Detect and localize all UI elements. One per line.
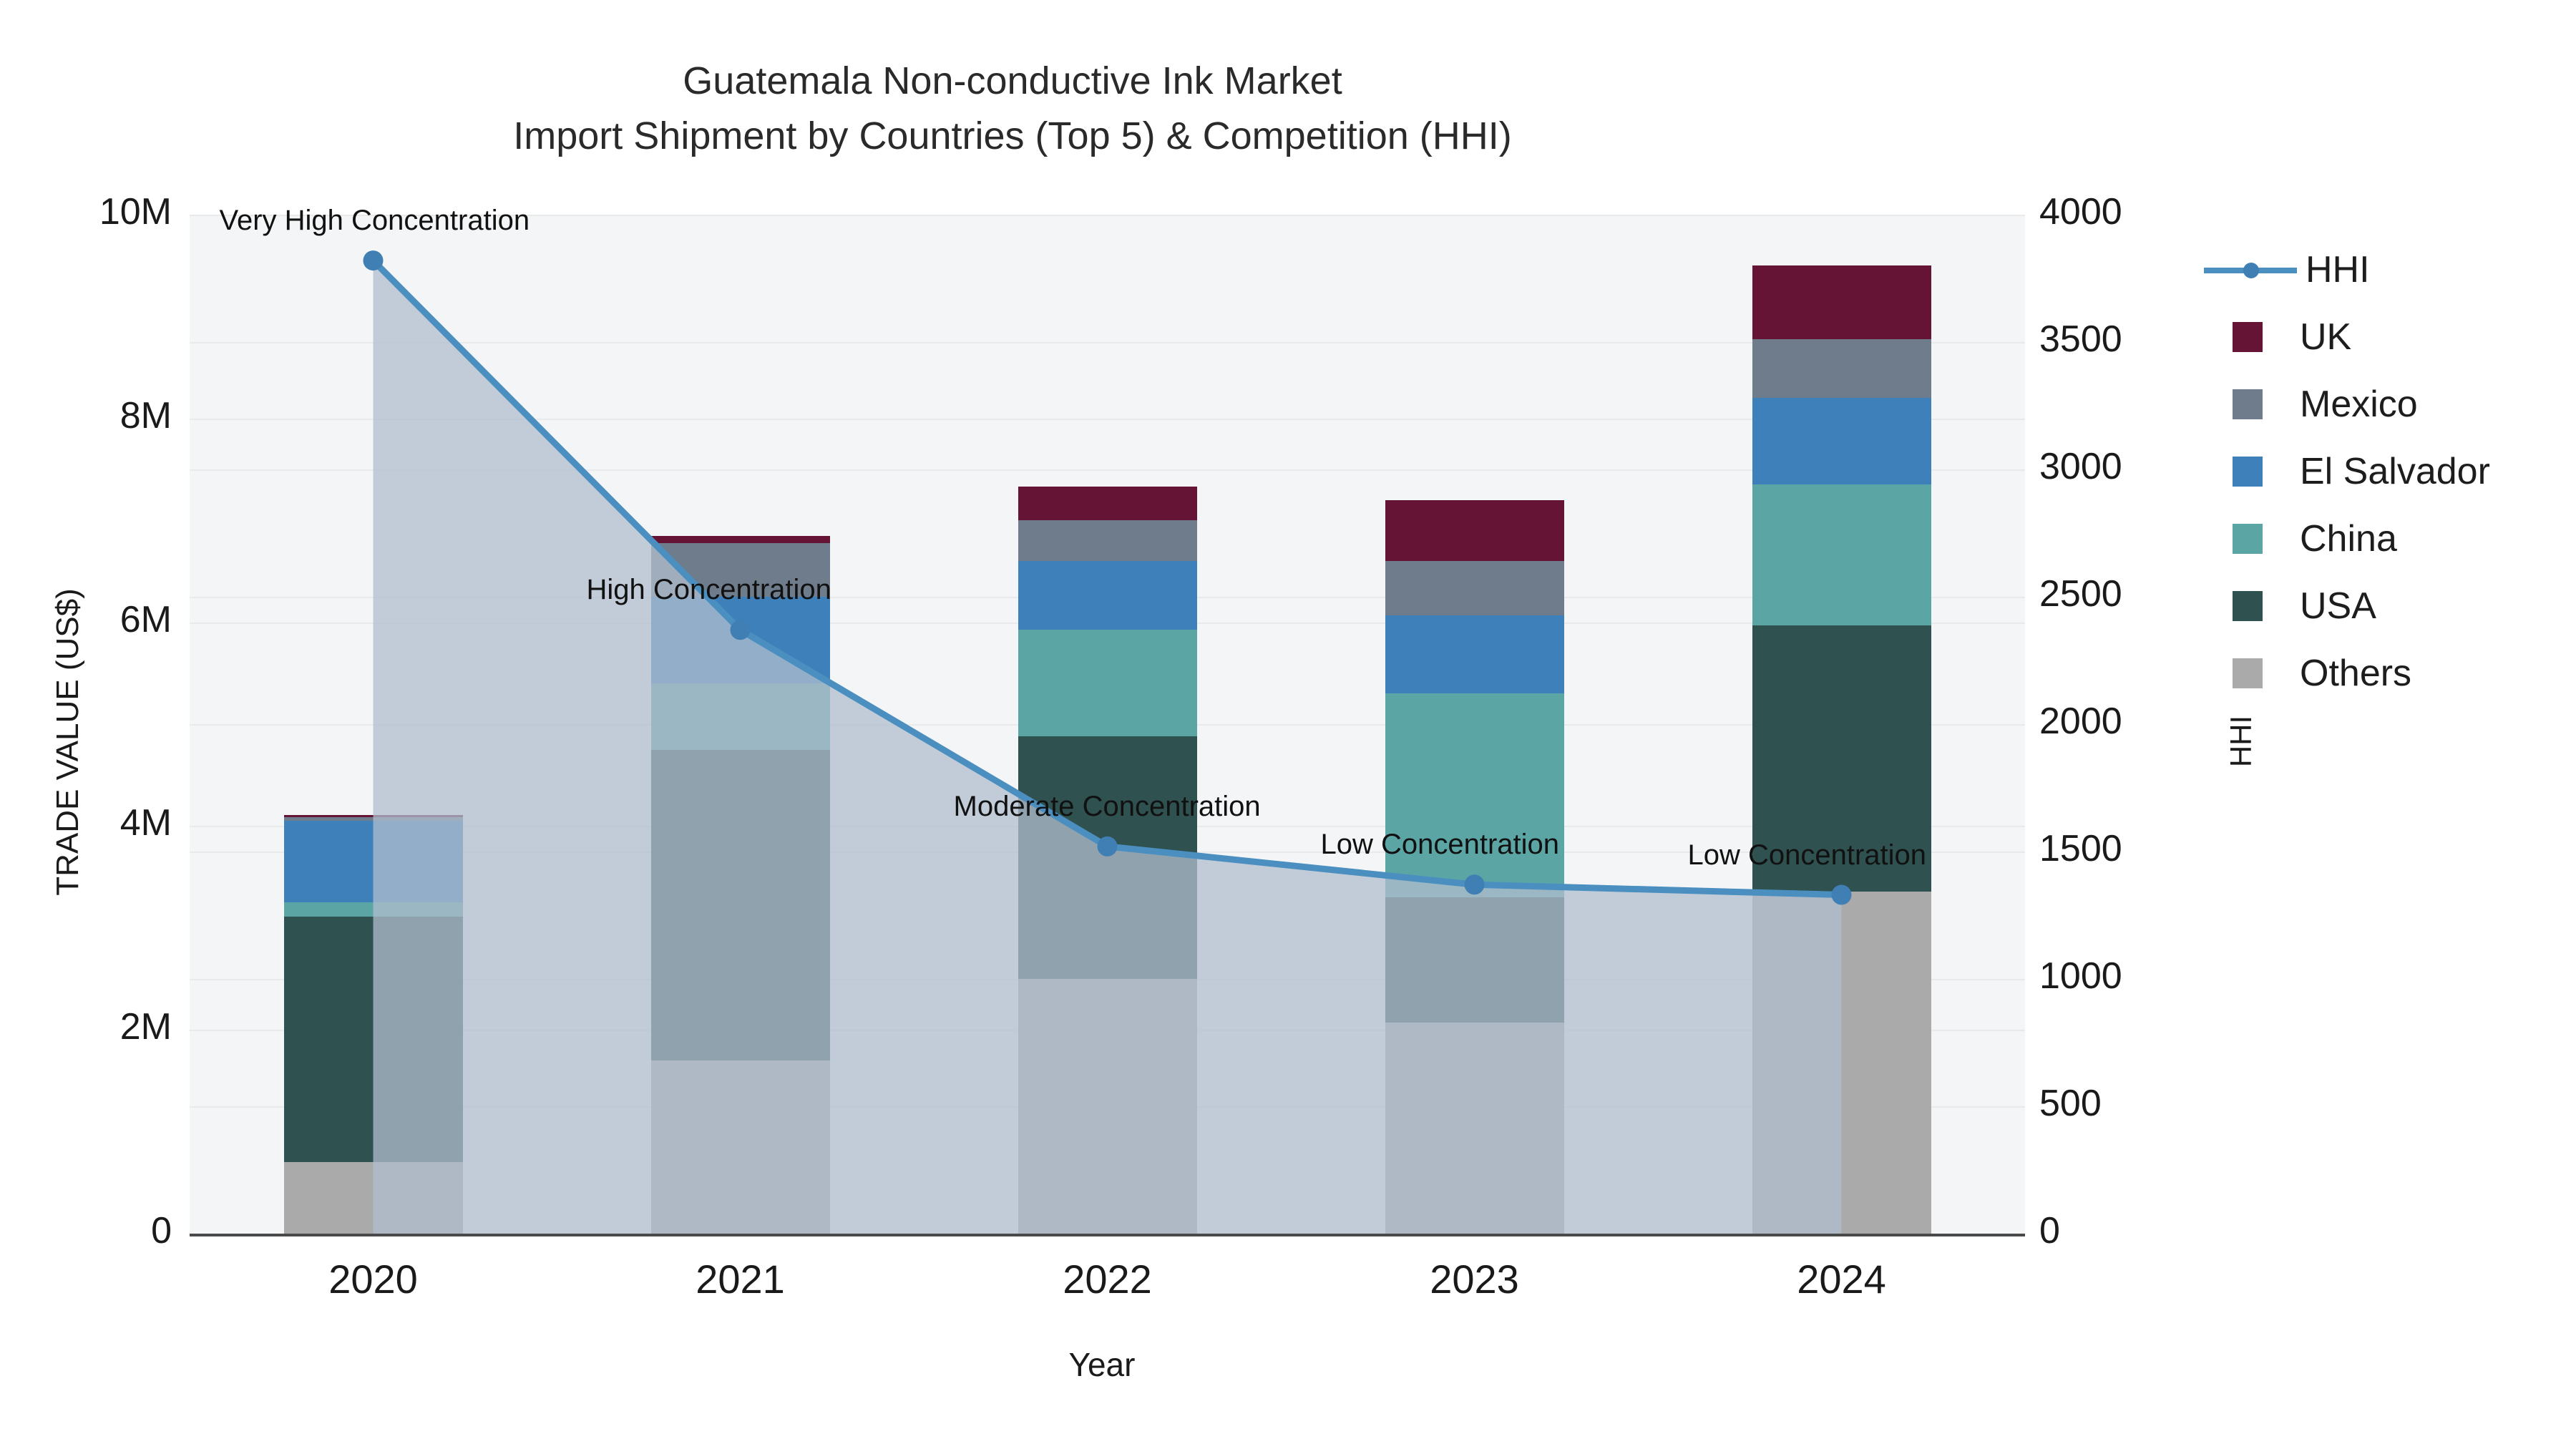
bar-segment-uk[interactable]: [651, 536, 830, 543]
legend-item-uk[interactable]: UK: [2204, 303, 2576, 371]
annotation-2021: High Concentration: [587, 574, 831, 606]
legend-swatch-icon: [2233, 322, 2263, 352]
chart-title: Guatemala Non-conductive Ink Market Impo…: [0, 54, 2025, 163]
y-axis-left-label: TRADE VALUE (US$): [50, 492, 86, 992]
legend-line-icon: [2204, 255, 2297, 285]
bar-segment-usa[interactable]: [1018, 736, 1197, 979]
legend-item-mexico[interactable]: Mexico: [2204, 371, 2576, 438]
chart-title-line-1: Guatemala Non-conductive Ink Market: [0, 54, 2025, 109]
legend-swatch-icon: [2233, 389, 2263, 419]
x-tick-2022: 2022: [965, 1256, 1251, 1302]
y-left-tick-8M: 8M: [29, 394, 172, 437]
legend-label: China: [2300, 517, 2397, 560]
y-right-tick-2500: 2500: [2039, 572, 2211, 615]
x-tick-2020: 2020: [230, 1256, 517, 1302]
legend-label: Others: [2300, 652, 2411, 695]
bar-segment-others[interactable]: [1752, 892, 1931, 1234]
bar-segment-china[interactable]: [1385, 693, 1564, 897]
bar-group-2020[interactable]: [284, 215, 463, 1234]
y-right-tick-500: 500: [2039, 1082, 2211, 1125]
plot-area: Very High ConcentrationHigh Concentratio…: [190, 215, 2025, 1234]
legend: HHIUKMexicoEl SalvadorChinaUSAOthers: [2204, 236, 2576, 707]
legend-label: UK: [2300, 316, 2351, 358]
legend-label: USA: [2300, 585, 2376, 628]
chart-title-line-2: Import Shipment by Countries (Top 5) & C…: [0, 109, 2025, 164]
bar-segment-el-salvador[interactable]: [284, 821, 463, 902]
x-axis-label: Year: [923, 1345, 1281, 1384]
y-left-tick-2M: 2M: [29, 1005, 172, 1048]
bar-segment-mexico[interactable]: [1018, 520, 1197, 561]
x-tick-2024: 2024: [1699, 1256, 1985, 1302]
bar-group-2024[interactable]: [1752, 215, 1931, 1234]
bar-segment-uk[interactable]: [284, 815, 463, 817]
bar-segment-others[interactable]: [651, 1060, 830, 1234]
legend-item-el-salvador[interactable]: El Salvador: [2204, 438, 2576, 505]
y-right-tick-2000: 2000: [2039, 700, 2211, 743]
bar-segment-mexico[interactable]: [1752, 339, 1931, 399]
bar-segment-el-salvador[interactable]: [1752, 398, 1931, 484]
legend-swatch-icon: [2233, 457, 2263, 487]
bar-group-2023[interactable]: [1385, 215, 1564, 1234]
legend-swatch-icon: [2233, 591, 2263, 621]
bar-segment-china[interactable]: [284, 902, 463, 917]
y-right-tick-4000: 4000: [2039, 190, 2211, 233]
legend-item-others[interactable]: Others: [2204, 640, 2576, 707]
x-tick-2021: 2021: [597, 1256, 884, 1302]
bar-segment-usa[interactable]: [1385, 897, 1564, 1023]
bar-segment-el-salvador[interactable]: [1385, 615, 1564, 694]
y-right-tick-1500: 1500: [2039, 827, 2211, 870]
bar-segment-usa[interactable]: [284, 917, 463, 1162]
annotation-2020: Very High Concentration: [220, 205, 530, 237]
bar-segment-uk[interactable]: [1385, 500, 1564, 561]
annotation-2024: Low Concentration: [1688, 839, 1927, 872]
legend-item-china[interactable]: China: [2204, 505, 2576, 572]
bar-segment-china[interactable]: [651, 683, 830, 750]
annotation-2023: Low Concentration: [1321, 829, 1560, 861]
y-right-tick-3000: 3000: [2039, 445, 2211, 488]
legend-label: HHI: [2306, 248, 2370, 291]
bar-group-2021[interactable]: [651, 215, 830, 1234]
legend-swatch-icon: [2233, 524, 2263, 554]
bar-segment-el-salvador[interactable]: [651, 597, 830, 683]
bar-segment-others[interactable]: [1018, 979, 1197, 1234]
y-right-tick-0: 0: [2039, 1209, 2211, 1252]
bar-segment-others[interactable]: [1385, 1023, 1564, 1234]
bar-segment-china[interactable]: [1018, 630, 1197, 737]
bar-group-2022[interactable]: [1018, 215, 1197, 1234]
y-right-tick-3500: 3500: [2039, 318, 2211, 361]
y-right-tick-1000: 1000: [2039, 955, 2211, 997]
bar-segment-china[interactable]: [1752, 484, 1931, 625]
bar-segment-others[interactable]: [284, 1162, 463, 1234]
x-axis-line: [190, 1234, 2025, 1236]
bar-segment-usa[interactable]: [651, 750, 830, 1060]
legend-label: Mexico: [2300, 383, 2418, 426]
x-tick-2023: 2023: [1332, 1256, 1618, 1302]
bar-segment-mexico[interactable]: [1385, 561, 1564, 615]
y-left-tick-0: 0: [29, 1209, 172, 1252]
chart-canvas: Guatemala Non-conductive Ink Market Impo…: [0, 0, 2576, 1449]
bar-segment-mexico[interactable]: [284, 817, 463, 821]
legend-swatch-icon: [2233, 658, 2263, 688]
legend-item-usa[interactable]: USA: [2204, 572, 2576, 640]
annotation-2022: Moderate Concentration: [954, 791, 1261, 823]
y-left-tick-10M: 10M: [29, 190, 172, 233]
bar-segment-el-salvador[interactable]: [1018, 561, 1197, 629]
legend-label: El Salvador: [2300, 450, 2490, 493]
bar-segment-uk[interactable]: [1018, 487, 1197, 520]
bar-segment-uk[interactable]: [1752, 265, 1931, 339]
legend-item-hhi[interactable]: HHI: [2204, 236, 2576, 303]
